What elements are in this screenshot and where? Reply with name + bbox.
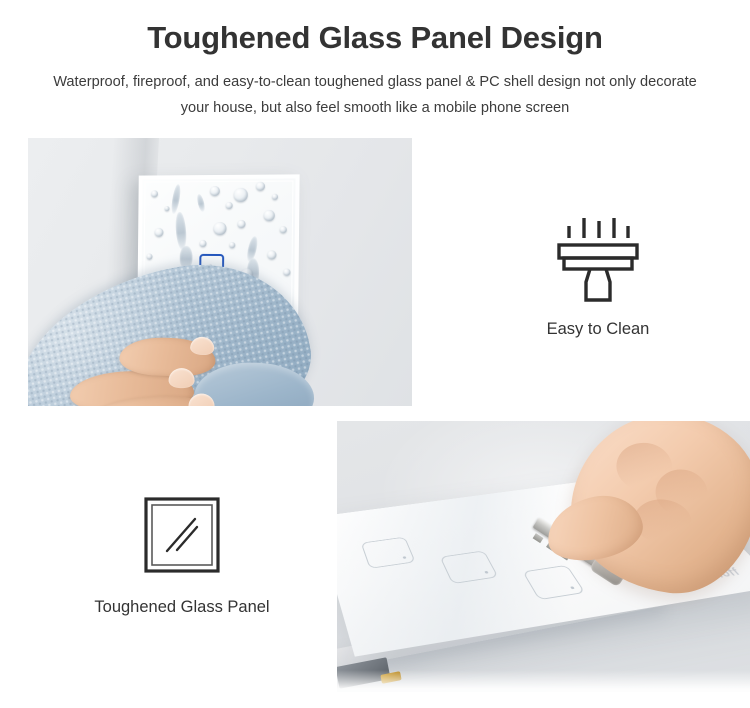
- water-droplet: [237, 220, 245, 228]
- hand-holding-key: [537, 421, 750, 630]
- water-droplet: [151, 190, 158, 197]
- water-streak: [170, 184, 182, 215]
- photo-cleaning-panel: [28, 138, 412, 406]
- water-droplet: [283, 269, 290, 276]
- water-droplet: [210, 186, 220, 196]
- water-droplet: [256, 182, 265, 191]
- water-droplet: [234, 188, 248, 202]
- glass-panel-icon: [143, 496, 221, 574]
- water-droplet: [264, 210, 275, 221]
- water-streak: [196, 194, 206, 213]
- water-droplet: [226, 202, 233, 209]
- water-droplet: [229, 242, 235, 248]
- switch-touch-key-2[interactable]: [440, 550, 499, 584]
- water-droplet: [280, 226, 287, 233]
- page-title: Toughened Glass Panel Design: [0, 20, 750, 56]
- fingernail: [169, 368, 195, 388]
- water-droplet: [155, 228, 164, 237]
- feature-toughened-glass-panel: Toughened Glass Panel: [34, 496, 330, 617]
- photo-scratch-test: Sonoff: [337, 421, 750, 692]
- water-droplet: [267, 250, 276, 259]
- feature-easy-to-clean: Easy to Clean: [470, 212, 726, 339]
- feature-label-toughened-glass-panel: Toughened Glass Panel: [34, 598, 330, 617]
- water-droplet: [147, 254, 153, 260]
- water-droplet: [165, 206, 170, 211]
- water-streak: [175, 212, 188, 250]
- photo-bottom-fade: [337, 670, 750, 692]
- page-header: Toughened Glass Panel Design Waterproof,…: [0, 0, 750, 121]
- water-streak: [245, 236, 259, 263]
- water-droplet: [213, 222, 226, 235]
- water-droplet: [272, 194, 278, 200]
- page-subtitle: Waterproof, fireproof, and easy-to-clean…: [0, 69, 750, 121]
- water-droplet: [200, 240, 207, 247]
- switch-touch-key-1[interactable]: [361, 537, 416, 569]
- squeegee-icon: [550, 212, 646, 304]
- product-feature-page: Toughened Glass Panel Design Waterproof,…: [0, 0, 750, 708]
- fingernail: [190, 336, 215, 356]
- feature-label-easy-to-clean: Easy to Clean: [470, 320, 726, 339]
